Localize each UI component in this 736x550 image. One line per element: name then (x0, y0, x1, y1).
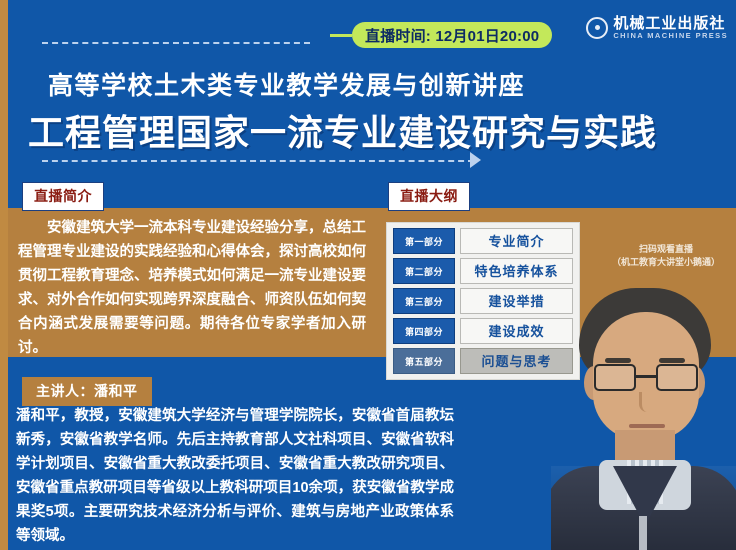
outline-part-label: 第二部分 (393, 258, 455, 284)
speaker-biography: 潘和平，教授，安徽建筑大学经济与管理学院院长，安徽省首届教坛新秀，安徽省教学名师… (16, 404, 454, 548)
qr-caption-line2: （机工教育大讲堂小鹅通） (596, 256, 736, 269)
outline-part-label: 第三部分 (393, 288, 455, 314)
page-title: 工程管理国家一流专业建设研究与实践 (28, 104, 657, 156)
title-bottom-dashed-rule (42, 160, 474, 162)
publisher-name-cn: 机械工业出版社 (613, 16, 728, 32)
table-row: 第三部分 建设举措 (393, 288, 573, 314)
eyeglasses-icon (594, 364, 698, 391)
arrow-right-icon (470, 152, 481, 168)
outline-part-label: 第四部分 (393, 318, 455, 344)
table-row: 第二部分 特色培养体系 (393, 258, 573, 284)
live-time-badge: 直播时间: 12月01日20:00 (352, 22, 552, 48)
speaker-name-badge: 主讲人：潘和平 (22, 377, 152, 406)
outline-part-label: 第一部分 (393, 228, 455, 254)
table-row: 第四部分 建设成效 (393, 318, 573, 344)
qr-code-caption: 扫码观看直播 （机工教育大讲堂小鹅通） (596, 243, 736, 269)
section-label-intro: 直播简介 (22, 182, 104, 211)
outline-part-title: 专业简介 (460, 228, 573, 254)
poster-header: 直播时间: 12月01日20:00 机械工业出版社 CHINA MACHINE … (0, 0, 736, 52)
publisher-logo: 机械工业出版社 CHINA MACHINE PRESS (586, 16, 728, 40)
publisher-name-en: CHINA MACHINE PRESS (613, 32, 728, 40)
poster-root: 直播时间: 12月01日20:00 机械工业出版社 CHINA MACHINE … (0, 0, 736, 550)
publisher-logo-text: 机械工业出版社 CHINA MACHINE PRESS (613, 16, 728, 40)
table-row: 第五部分 问题与思考 (393, 348, 573, 374)
left-accent-stripe (0, 0, 8, 550)
outline-part-label: 第五部分 (393, 348, 455, 374)
qr-caption-line1: 扫码观看直播 (596, 243, 736, 256)
section-label-outline: 直播大纲 (388, 182, 470, 211)
time-leader-dash (330, 34, 352, 37)
intro-paragraph: 安徽建筑大学一流本科专业建设经验分享，总结工程管理专业建设的实践经验和心得体会，… (18, 216, 366, 360)
table-row: 第一部分 专业简介 (393, 228, 573, 254)
outline-part-title: 特色培养体系 (460, 258, 573, 284)
speaker-portrait-photo (551, 288, 736, 550)
gear-icon (586, 17, 608, 39)
poster-subtitle: 高等学校土木类专业教学发展与创新讲座 (48, 66, 525, 102)
